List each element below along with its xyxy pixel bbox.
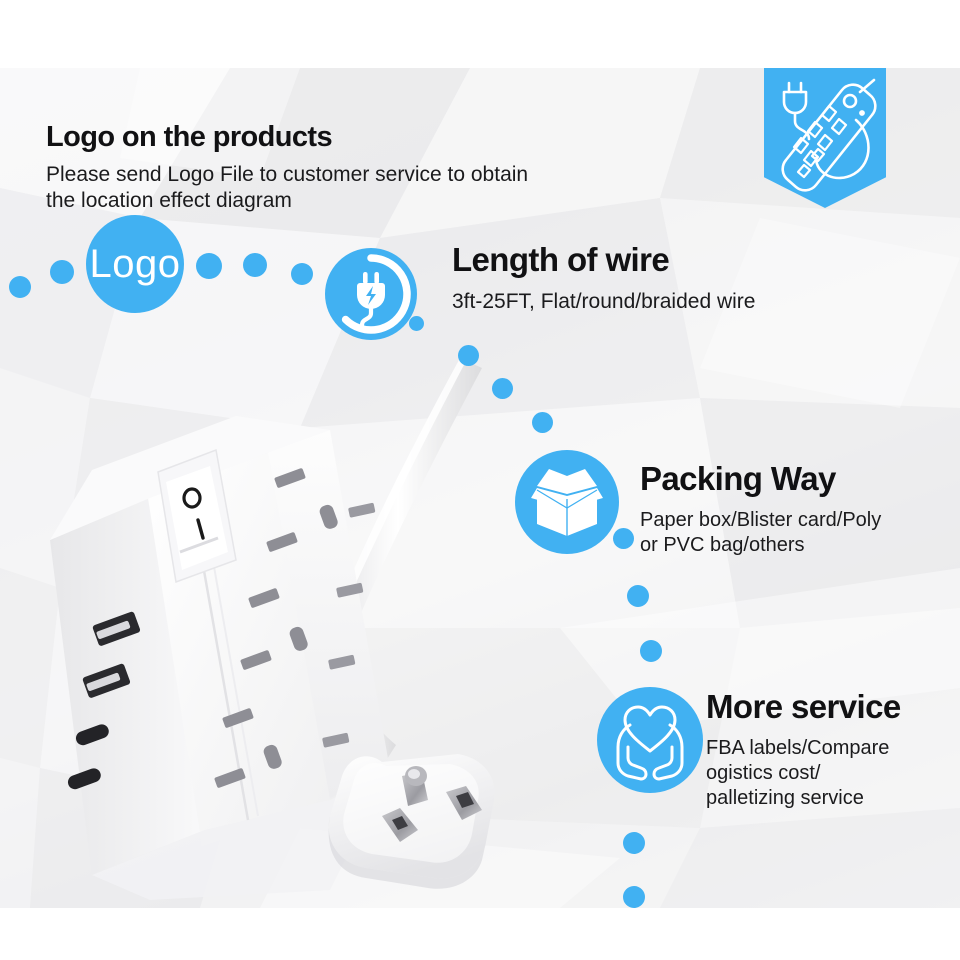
section-body-packing-line2: or PVC bag/others bbox=[640, 533, 960, 558]
open-box-glyph bbox=[515, 450, 619, 554]
decor-dot bbox=[50, 260, 74, 284]
decor-dot bbox=[532, 412, 553, 433]
logo-circle-icon: Logo bbox=[86, 215, 184, 313]
plug-bolt-icon bbox=[325, 248, 417, 340]
section-packing-way: Packing Way Paper box/Blister card/Poly … bbox=[640, 462, 960, 558]
section-heading-more-service: More service bbox=[706, 690, 956, 724]
decor-dot bbox=[9, 276, 31, 298]
section-body-more-line3: palletizing service bbox=[706, 786, 956, 811]
section-body-logo-line1: Please send Logo File to customer servic… bbox=[46, 162, 686, 188]
section-length-of-wire: Length of wire 3ft-25FT, Flat/round/brai… bbox=[452, 243, 952, 315]
infographic-canvas: How to Custom? bbox=[0, 0, 960, 960]
bottom-white-band bbox=[0, 908, 960, 960]
hands-heart-glyph bbox=[597, 687, 703, 793]
section-logo-on-products: Logo on the products Please send Logo Fi… bbox=[46, 120, 686, 214]
decor-dot bbox=[623, 832, 645, 854]
section-heading-length: Length of wire bbox=[452, 243, 952, 277]
hands-heart-icon bbox=[597, 687, 703, 793]
section-body-packing-line1: Paper box/Blister card/Poly bbox=[640, 508, 960, 533]
decor-dot bbox=[458, 345, 479, 366]
decor-dot bbox=[196, 253, 222, 279]
section-more-service: More service FBA labels/Compare ogistics… bbox=[706, 690, 956, 811]
section-heading-logo: Logo on the products bbox=[46, 120, 686, 154]
title-band bbox=[0, 0, 960, 68]
logo-circle-label: Logo bbox=[90, 242, 181, 287]
section-body-more-line2: ogistics cost/ bbox=[706, 761, 956, 786]
section-body-logo-line2: the location effect diagram bbox=[46, 188, 686, 214]
section-body-more-line1: FBA labels/Compare bbox=[706, 736, 956, 761]
open-box-icon bbox=[515, 450, 619, 554]
section-heading-packing: Packing Way bbox=[640, 462, 960, 496]
decor-dot bbox=[627, 585, 649, 607]
decor-dot bbox=[492, 378, 513, 399]
decor-dot bbox=[640, 640, 662, 662]
wall-plug-icon bbox=[329, 754, 495, 889]
decor-dot bbox=[243, 253, 267, 277]
section-body-length-line1: 3ft-25FT, Flat/round/braided wire bbox=[452, 289, 952, 315]
plug-bolt-glyph bbox=[325, 248, 417, 340]
decor-dot bbox=[291, 263, 313, 285]
product-power-strip-image bbox=[30, 330, 650, 910]
decor-dot bbox=[623, 886, 645, 908]
